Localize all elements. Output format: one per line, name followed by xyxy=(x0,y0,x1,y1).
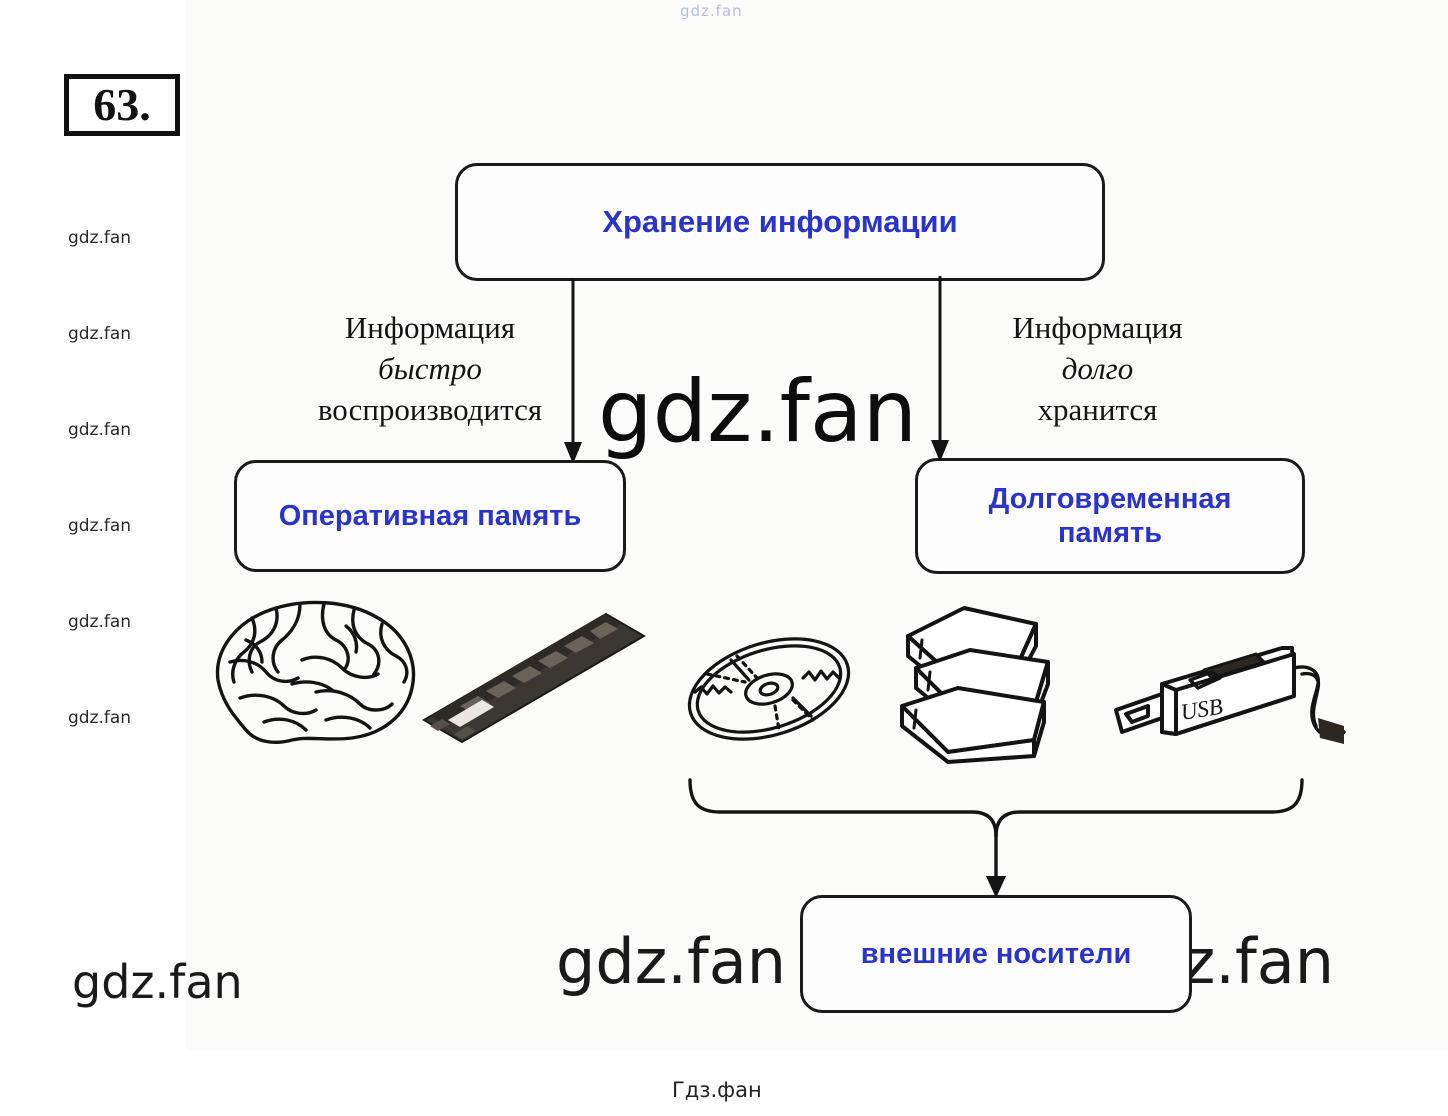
brain-illustration xyxy=(196,588,428,756)
exercise-number-box: 63. xyxy=(64,74,180,136)
watermark-sidebar-3: gdz.fan xyxy=(68,420,131,440)
caption-right-line1: Информация xyxy=(960,308,1235,349)
caption-left-line2: быстро xyxy=(275,349,585,390)
caption-left-line1: Информация xyxy=(275,308,585,349)
compact-disc-illustration xyxy=(683,630,855,748)
watermark-sidebar-5: gdz.fan xyxy=(68,612,131,632)
caption-right-line2: долго xyxy=(960,349,1235,390)
exercise-number-label: 63. xyxy=(93,82,151,128)
watermark-sidebar-2: gdz.fan xyxy=(68,324,131,344)
watermark-bottom-middle-left: gdz.fan xyxy=(556,925,786,998)
caption-right-line3: хранится xyxy=(960,390,1235,431)
node-storage-title: Хранение информации xyxy=(455,163,1105,281)
watermark-center-large: gdz.fan xyxy=(598,362,917,462)
watermark-sidebar-1: gdz.fan xyxy=(68,228,131,248)
node-longterm-memory: Долговременная память xyxy=(915,458,1305,574)
node-operative-memory: Оперативная память xyxy=(234,460,626,572)
watermark-bottom-left: gdz.fan xyxy=(72,955,243,1009)
arrow-title-to-longterm-memory xyxy=(925,276,955,466)
caption-left-line3: воспроизводится xyxy=(275,390,585,431)
watermark-sidebar-6: gdz.fan xyxy=(68,708,131,728)
node-longterm-memory-label: Долговременная память xyxy=(934,482,1286,550)
usb-flash-drive-illustration: USB xyxy=(1104,634,1360,754)
watermark-footer: Гдз.фан xyxy=(672,1078,762,1102)
node-external-media: внешние носители xyxy=(800,895,1192,1013)
page-canvas: 63. gdz.fan gdz.fan gdz.fan gdz.fan gdz.… xyxy=(0,0,1448,1116)
ram-module-illustration xyxy=(420,608,648,748)
watermark-sidebar-4: gdz.fan xyxy=(68,516,131,536)
brace-to-external-media xyxy=(676,778,1316,903)
caption-long-storage: Информация долго хранится xyxy=(960,308,1235,431)
books-stack-illustration xyxy=(886,598,1070,768)
caption-fast-reproduction: Информация быстро воспроизводится xyxy=(275,308,585,431)
node-storage-title-label: Хранение информации xyxy=(602,204,957,241)
node-external-media-label: внешние носители xyxy=(861,937,1132,971)
watermark-top: gdz.fan xyxy=(680,2,743,20)
node-operative-memory-label: Оперативная память xyxy=(279,499,582,533)
